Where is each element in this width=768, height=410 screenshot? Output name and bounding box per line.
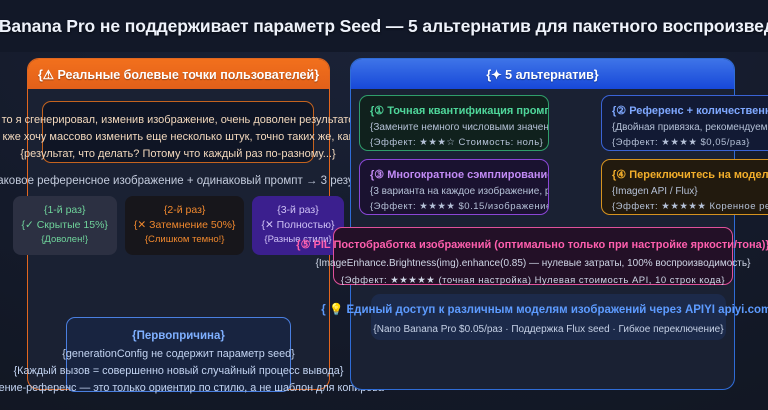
- attempt-card-1-verdict: {Доволен!}: [22, 233, 108, 247]
- root-cause-line-3: бражение-референс — это только ориентир …: [0, 382, 384, 394]
- attempt-card-1-title: {1-й раз}: [22, 203, 108, 218]
- alt-card-4-title: {④ Переключитесь на модель с поддерж: [612, 167, 768, 184]
- pain-points-panel: {⚠ Реальные болевые точки пользователей}…: [27, 58, 330, 390]
- page-title-band: o Banana Pro не поддерживает параметр Se…: [0, 0, 768, 52]
- page-root: o Banana Pro не поддерживает параметр Se…: [0, 0, 768, 410]
- pain-points-panel-header: {⚠ Реальные болевые точки пользователей}: [28, 59, 329, 89]
- attempt-card-2-title: {2-й раз}: [134, 203, 236, 218]
- alt-card-3-subtitle: {3 варианта на каждое изображение, р: [370, 184, 539, 200]
- alt-card-3-title: {③ Многократное сэмплирование: [370, 167, 539, 184]
- page-title: o Banana Pro не поддерживает параметр Se…: [0, 16, 768, 37]
- attempt-card-3-title: {3-й раз}: [261, 203, 334, 218]
- alt-card-4-effect: {Эффект: ★★★★★ Коренное решение}: [612, 200, 768, 215]
- attempt-card-2-detail: {✕ Затемнение 50%}: [134, 218, 236, 233]
- root-cause-line-2: {Каждый вызов = совершенно новый случайн…: [14, 365, 344, 377]
- alt-card-5-title: {⑤ PIL Постобработка изображений (оптима…: [296, 239, 768, 251]
- alternatives-panel-header: {✦ 5 альтернатив}: [351, 59, 734, 89]
- root-cause-box: {Первопричина} {generationConfig не соде…: [66, 317, 291, 392]
- attempt-card-3-detail: {✕ Полностью}: [261, 218, 334, 233]
- alt-card-switch-model[interactable]: {④ Переключитесь на модель с поддерж {Im…: [601, 159, 768, 215]
- alternatives-panel: {✦ 5 альтернатив} {① Точная квантификаци…: [350, 58, 735, 390]
- attempt-card-1: {1-й раз} {✓ Скрытые 15%} {Доволен!}: [13, 196, 117, 255]
- user-quote-box: то я сгенерировал, изменив изображение, …: [42, 101, 314, 163]
- alt-card-1-subtitle: {Замените немного числовыми значени: [370, 120, 539, 136]
- alt-card-5-subtitle: {ImageEnhance.Brightness(img).enhance(0.…: [316, 258, 751, 269]
- alt-card-reference-plus-quant[interactable]: {② Референс + количественный промпт} {Дв…: [601, 95, 768, 151]
- alt-card-2-effect: {Эффект: ★★★★ $0,05/раз}: [612, 136, 768, 151]
- user-quote-line-3: {результат, что делать? Потому что кажды…: [20, 148, 335, 160]
- attempt-card-2-verdict: {Слишком темно!}: [134, 233, 236, 247]
- alt-card-4-subtitle: {Imagen API / Flux}: [612, 184, 768, 200]
- alt-card-1-title: {① Точная квантификация промпт: [370, 103, 539, 120]
- attempt-card-2: {2-й раз} {✕ Затемнение 50%} {Слишком те…: [125, 196, 245, 255]
- alt-card-precise-quantification[interactable]: {① Точная квантификация промпт {Замените…: [359, 95, 549, 151]
- alt-card-3-effect: {Эффект: ★★★★ $0.15/изображение}: [370, 200, 539, 215]
- alt-card-multiple-sampling[interactable]: {③ Многократное сэмплирование {3 вариант…: [359, 159, 549, 215]
- attempts-row: {1-й раз} {✓ Скрытые 15%} {Доволен!} {2-…: [40, 196, 316, 255]
- user-quote-line-1: то я сгенерировал, изменив изображение, …: [2, 114, 355, 126]
- root-cause-line-1: {generationConfig не содержит параметр s…: [62, 348, 295, 360]
- promo-card-apiyi[interactable]: { 💡 Единый доступ к различным моделям из…: [371, 294, 726, 340]
- promo-card-subtitle: {Nano Banana Pro $0.05/раз · Поддержка F…: [373, 324, 723, 335]
- same-input-caption: наковое референсное изображение + одинак…: [0, 175, 366, 187]
- root-cause-heading: {Первопричина}: [132, 330, 225, 342]
- alt-card-1-effect: {Эффект: ★★★☆ Стоимость: ноль}: [370, 136, 539, 151]
- alt-card-5-effect: {Эффект: ★★★★★ (точная настройка) Нулева…: [341, 275, 725, 286]
- alt-card-2-title: {② Референс + количественный промпт}: [612, 103, 768, 120]
- alt-card-pil-postprocess[interactable]: {⑤ PIL Постобработка изображений (оптима…: [333, 227, 733, 285]
- user-quote-line-2: кже хочу массово изменить еще несколько …: [3, 131, 354, 143]
- attempt-card-1-detail: {✓ Скрытые 15%}: [22, 218, 108, 233]
- promo-card-title: { 💡 Единый доступ к различным моделям из…: [321, 304, 768, 316]
- alt-card-2-subtitle: {Двойная привязка, рекомендуемый выбор}: [612, 120, 768, 136]
